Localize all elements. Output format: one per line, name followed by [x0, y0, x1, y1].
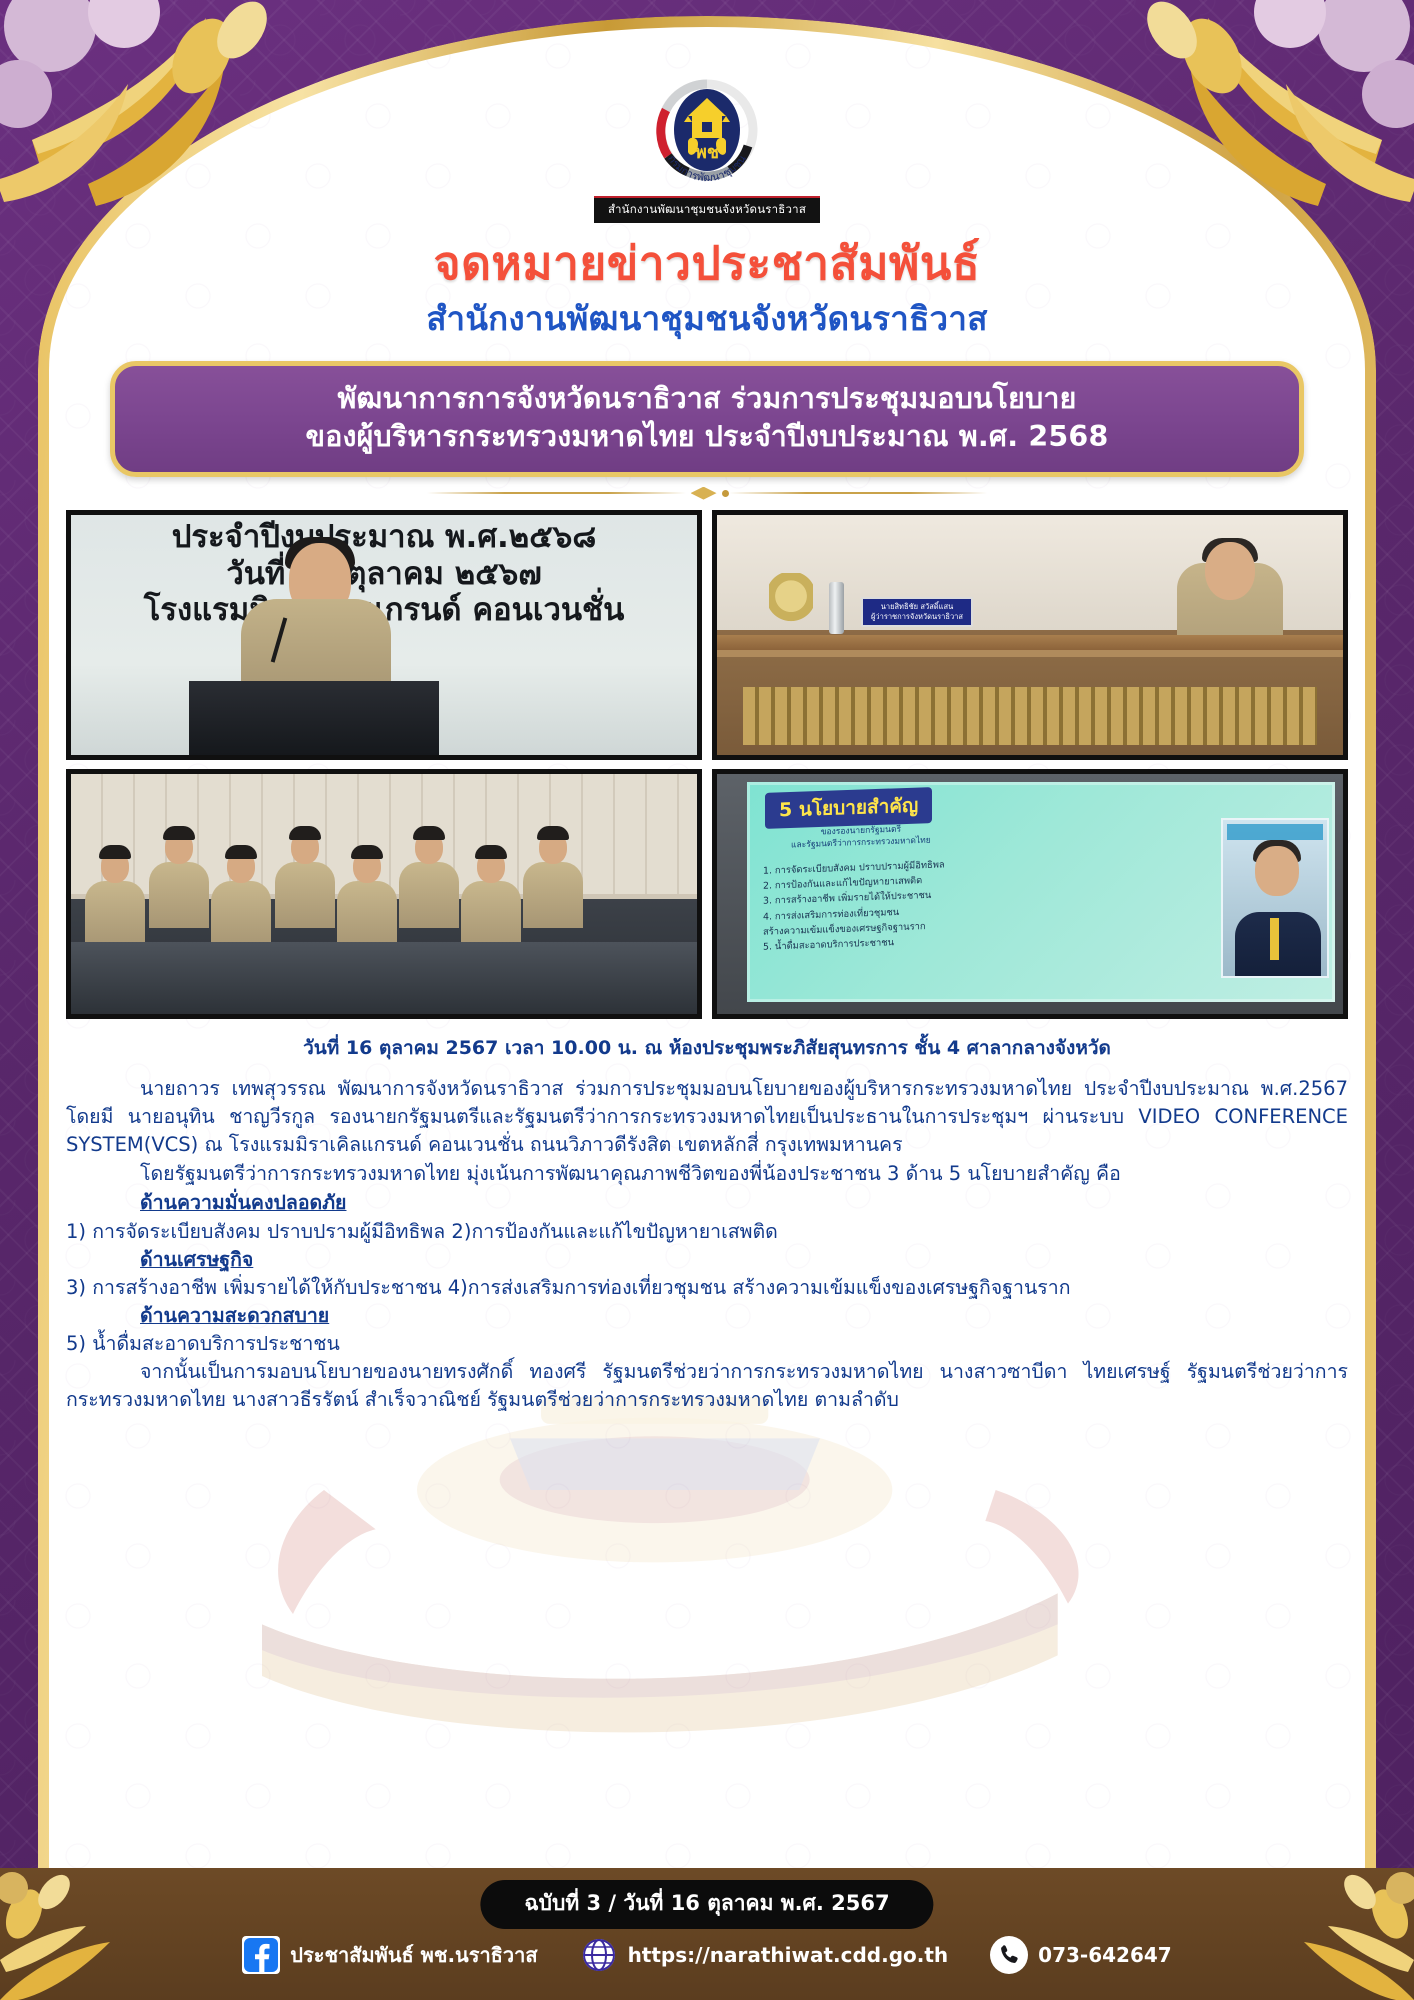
poster-page: พช กรมการพัฒนาชุมชน สำนักงานพัฒนาชุมชนจั… — [0, 0, 1414, 2000]
nameplate-name: นายสิทธิชัย สวัสดิ์แสน — [871, 602, 963, 612]
audience-person — [523, 862, 583, 928]
phone-label: 073-642647 — [1038, 1943, 1172, 1967]
headline-banner-wrap: พัฒนาการการจังหวัดนราธิวาส ร่วมการประชุม… — [110, 361, 1304, 477]
section-heading-security: ด้านความมั่นคงปลอดภัย — [140, 1189, 1348, 1217]
desk-emblem — [769, 573, 813, 631]
section-heading-economy: ด้านเศรษฐกิจ — [140, 1246, 1348, 1274]
projection-screen: 5 นโยบายสำคัญ ของรองนายกรัฐมนตรี และรัฐม… — [747, 782, 1335, 1002]
inset-title-bar — [1227, 824, 1323, 840]
audience-person — [211, 881, 271, 947]
governor-head — [1205, 542, 1255, 600]
department-logo-block: พช กรมการพัฒนาชุมชน สำนักงานพัฒนาชุมชนจั… — [0, 74, 1414, 223]
divider-bar-left — [427, 492, 686, 494]
slide-title: 5 นโยบายสำคัญ — [765, 787, 932, 829]
governor-nameplate: นายสิทธิชัย สวัสดิ์แสน ผู้ว่าราชการจังหว… — [861, 597, 973, 627]
footer-facebook[interactable]: ประชาสัมพันธ์ พช.นราธิวาส — [242, 1936, 537, 1974]
nameplate-role: ผู้ว่าราชการจังหวัดนราธิวาส — [871, 612, 963, 622]
section-heading-convenience: ด้านความสะดวกสบาย — [140, 1302, 1348, 1330]
divider-bar-right — [729, 492, 988, 494]
inset-speaker-head — [1255, 846, 1299, 896]
article-paragraph-2: โดยรัฐมนตรีว่าการกระทรวงมหาดไทย มุ่งเน้น… — [66, 1160, 1348, 1188]
photo-projector-slide: 5 นโยบายสำคัญ ของรองนายกรัฐมนตรี และรัฐม… — [712, 769, 1348, 1019]
audience-person — [337, 881, 397, 947]
photo-governor-desk: นายสิทธิชัย สวัสดิ์แสน ผู้ว่าราชการจังหว… — [712, 510, 1348, 760]
facebook-label: ประชาสัมพันธ์ พช.นราธิวาส — [290, 1939, 537, 1971]
page-title: จดหมายข่าวประชาสัมพันธ์ — [0, 239, 1414, 288]
gold-divider — [427, 486, 987, 500]
photo-grid: ประจำปีงบประมาณ พ.ศ.๒๕๖๘ วันที่ ๑๖ ตุลาค… — [66, 510, 1348, 1019]
article-paragraph-3: จากนั้นเป็นการมอบนโยบายของนายทรงศักดิ์ ท… — [66, 1358, 1348, 1414]
footer-leaf-ornament-left — [0, 1868, 150, 2000]
department-office-caption: สำนักงานพัฒนาชุมชนจังหวัดนราธิวาส — [594, 196, 820, 223]
cdd-logo: พช กรมการพัฒนาชุมชน — [648, 74, 766, 194]
photo-audience — [66, 769, 702, 1019]
headline-banner: พัฒนาการการจังหวัดนราธิวาส ร่วมการประชุม… — [110, 361, 1304, 477]
section-items-security: 1) การจัดระเบียบสังคม ปราบปรามผู้มีอิทธิ… — [66, 1218, 1348, 1246]
podium-text-line-1: ประจำปีงบประมาณ พ.ศ.๒๕๖๘ — [71, 519, 697, 556]
audience-person — [149, 862, 209, 928]
article-dateline: วันที่ 16 ตุลาคม 2567 เวลา 10.00 น. ณ ห้… — [66, 1033, 1348, 1063]
audience-person — [399, 862, 459, 928]
photo-podium-backdrop-text: ประจำปีงบประมาณ พ.ศ.๒๕๖๘ วันที่ ๑๖ ตุลาค… — [71, 519, 697, 629]
podium-lectern — [189, 681, 439, 755]
headline-line-2: ของผู้บริหารกระทรวงมหาดไทย ประจำปีงบประม… — [141, 418, 1273, 456]
podium-text-line-2: วันที่ ๑๖ ตุลาคม ๒๕๖๗ — [71, 556, 697, 593]
poster-header: พช กรมการพัฒนาชุมชน สำนักงานพัฒนาชุมชนจั… — [0, 0, 1414, 345]
footer-contact-row: ประชาสัมพันธ์ พช.นราธิวาส https://narath… — [0, 1936, 1414, 1974]
svg-text:พช: พช — [695, 142, 719, 163]
divider-gem — [691, 487, 717, 500]
footer-leaf-ornament-right — [1264, 1868, 1414, 2000]
divider-dot — [722, 490, 729, 497]
inset-speaker-tie — [1270, 918, 1279, 960]
desk-thermos — [829, 582, 844, 634]
audience-person — [461, 881, 521, 947]
audience-person — [85, 881, 145, 947]
website-label: https://narathiwat.cdd.go.th — [628, 1943, 949, 1967]
slide-subtitle: ของรองนายกรัฐมนตรี และรัฐมนตรีว่าการกระท… — [791, 824, 931, 853]
desk-front-panel — [717, 650, 1343, 756]
footer-website[interactable]: https://narathiwat.cdd.go.th — [580, 1936, 949, 1974]
headline-line-1: พัฒนาการการจังหวัดนราธิวาส ร่วมการประชุม… — [141, 380, 1273, 418]
footer-phone[interactable]: 073-642647 — [990, 1936, 1172, 1974]
desk-grille-pattern — [743, 687, 1317, 745]
article-paragraph-1: นายถาวร เทพสุวรรณ พัฒนาการจังหวัดนราธิวา… — [66, 1075, 1348, 1159]
poster-footer: ฉบับที่ 3 / วันที่ 16 ตุลาคม พ.ศ. 2567 ป… — [0, 1868, 1414, 2000]
audience-person — [275, 862, 335, 928]
issue-badge: ฉบับที่ 3 / วันที่ 16 ตุลาคม พ.ศ. 2567 — [480, 1880, 933, 1929]
slide-speaker-inset — [1221, 818, 1329, 978]
phone-icon — [990, 1936, 1028, 1974]
article-body: วันที่ 16 ตุลาคม 2567 เวลา 10.00 น. ณ ห้… — [66, 1033, 1348, 1414]
globe-icon — [580, 1936, 618, 1974]
audience-conference-table — [71, 942, 697, 1014]
slide-policy-list: 1. การจัดระเบียบสังคม ปราบปรามผู้มีอิทธิ… — [763, 848, 1205, 955]
page-subtitle: สำนักงานพัฒนาชุมชนจังหวัดนราธิวาส — [0, 292, 1414, 345]
section-items-convenience: 5) น้ำดื่มสะอาดบริการประชาชน — [66, 1330, 1348, 1358]
photo-podium: ประจำปีงบประมาณ พ.ศ.๒๕๖๘ วันที่ ๑๖ ตุลาค… — [66, 510, 702, 760]
section-items-economy: 3) การสร้างอาชีพ เพิ่มรายได้ให้กับประชาช… — [66, 1274, 1348, 1302]
facebook-icon — [242, 1936, 280, 1974]
